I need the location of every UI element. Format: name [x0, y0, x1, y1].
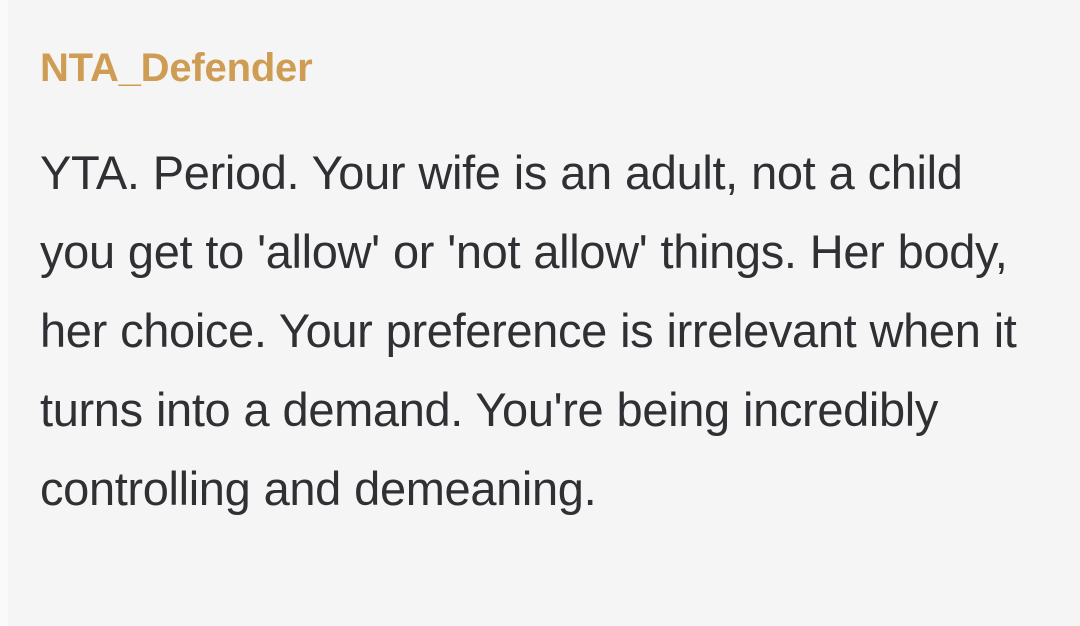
- comment-author-username[interactable]: NTA_Defender: [40, 42, 312, 94]
- comment-content-column: NTA_Defender YTA. Period. Your wife is a…: [40, 0, 1035, 626]
- comment-text: YTA. Period. Your wife is an adult, not …: [40, 133, 1035, 528]
- left-edge-strip: [0, 0, 8, 626]
- comment-card: NTA_Defender YTA. Period. Your wife is a…: [0, 0, 1080, 626]
